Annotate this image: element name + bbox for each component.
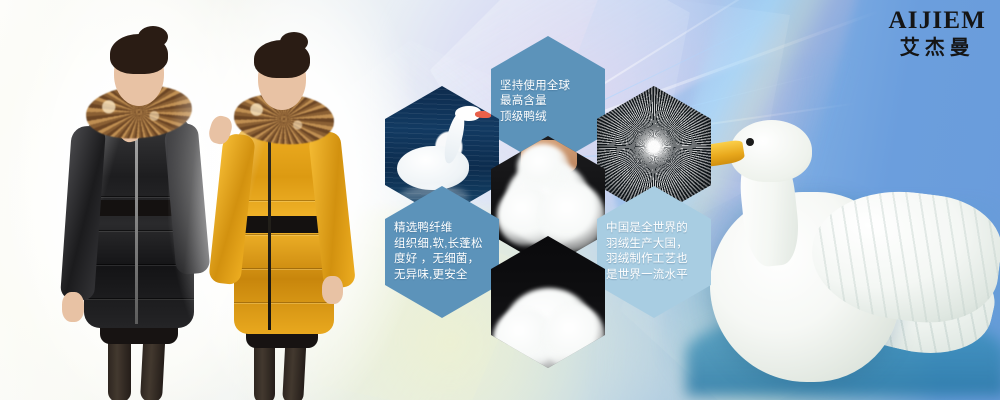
promo-banner: 坚持使用全球 最高含量 顶级鸭绒 精选鸭纤维 组织细,软,长蓬松 度好 ，无细菌… (0, 0, 1000, 400)
hex-left-text-label: 精选鸭纤维 组织细,软,长蓬松 度好 ，无细菌， 无异味,更安全 (394, 221, 490, 283)
down-puff (517, 144, 569, 190)
brand-logo-chinese: 艾杰曼 (889, 38, 986, 58)
model-zipper (268, 132, 271, 330)
model-hand-lower (322, 276, 343, 304)
model-hair-bun (138, 26, 168, 48)
hex-right-text[interactable]: 中国是全世界的 羽绒生产大国， 羽绒制作工艺也 是世界一流水平 (597, 186, 711, 318)
duck-eye (746, 138, 754, 146)
hexagon-cluster: 坚持使用全球 最高含量 顶级鸭绒 精选鸭纤维 组织细,软,长蓬松 度好 ，无细菌… (378, 36, 718, 368)
brand-logo[interactable]: AIJIEM 艾杰曼 (889, 8, 986, 58)
hex-top-text-label: 坚持使用全球 最高含量 顶级鸭绒 (500, 79, 596, 126)
hex-pile-photo[interactable] (491, 236, 605, 368)
swan-bill-icon (475, 111, 491, 118)
down-puff (543, 304, 605, 368)
model-zipper (135, 124, 138, 324)
white-duck (676, 96, 1000, 396)
hex-right-text-label: 中国是全世界的 羽绒生产大国， 羽绒制作工艺也 是世界一流水平 (606, 221, 702, 283)
model-yellow-coat (206, 4, 386, 400)
swan-body (397, 146, 469, 190)
brand-logo-latin: AIJIEM (889, 8, 986, 33)
hex-left-text[interactable]: 精选鸭纤维 组织细,软,长蓬松 度好 ，无细菌， 无异味,更安全 (385, 186, 499, 318)
model-hair-bun (280, 32, 308, 52)
model-hand-lower (62, 292, 84, 322)
